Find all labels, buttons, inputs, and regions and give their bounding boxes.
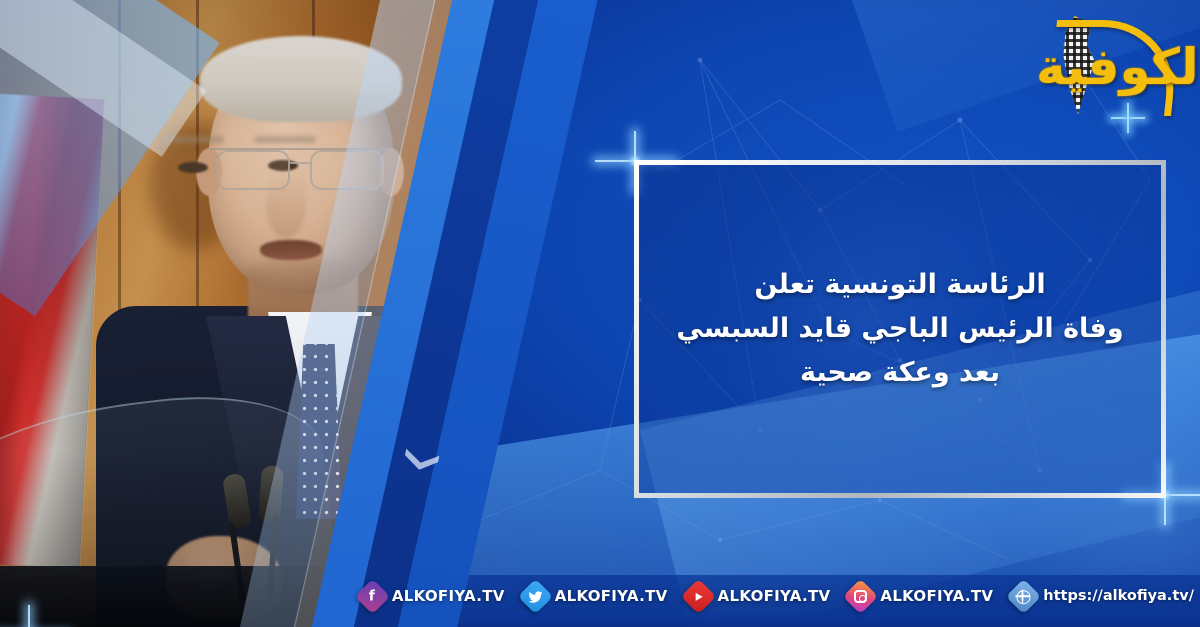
headline-line-2: وفاة الرئيس الباجي قايد السبسي (676, 307, 1123, 351)
social-link-website[interactable]: https://alkofiya.tv/ (1011, 584, 1194, 609)
instagram-icon[interactable] (843, 578, 878, 613)
social-label-youtube: ALKOFIYA.TV (718, 587, 831, 605)
social-link-twitter[interactable]: ALKOFIYA.TV (523, 584, 668, 609)
headline-line-3: بعد وعكة صحية (676, 351, 1123, 395)
social-link-instagram[interactable]: ALKOFIYA.TV (848, 584, 993, 609)
social-link-youtube[interactable]: ALKOFIYA.TV (686, 584, 831, 609)
alkofiya-logo[interactable]: الكوفية (1036, 8, 1186, 126)
social-link-facebook[interactable]: f ALKOFIYA.TV (360, 584, 505, 609)
website-icon[interactable] (1006, 578, 1041, 613)
youtube-icon[interactable] (680, 578, 715, 613)
headline-line-1: الرئاسة التونسية تعلن (676, 263, 1123, 307)
social-label-instagram: ALKOFIYA.TV (880, 587, 993, 605)
headline-text: الرئاسة التونسية تعلن وفاة الرئيس الباجي… (660, 263, 1139, 394)
social-label-twitter: ALKOFIYA.TV (555, 587, 668, 605)
social-links-bar: f ALKOFIYA.TV ALKOFIYA.TV ALKOFIYA.TV (520, 579, 1194, 613)
facebook-icon[interactable]: f (355, 578, 390, 613)
headline-frame: الرئاسة التونسية تعلن وفاة الرئيس الباجي… (634, 160, 1166, 498)
social-label-website: https://alkofiya.tv/ (1043, 588, 1194, 604)
social-label-facebook: ALKOFIYA.TV (392, 587, 505, 605)
twitter-icon[interactable] (518, 578, 553, 613)
logo-sparkle-icon (1110, 100, 1146, 136)
news-card: الرئاسة التونسية تعلن وفاة الرئيس الباجي… (0, 0, 1200, 627)
